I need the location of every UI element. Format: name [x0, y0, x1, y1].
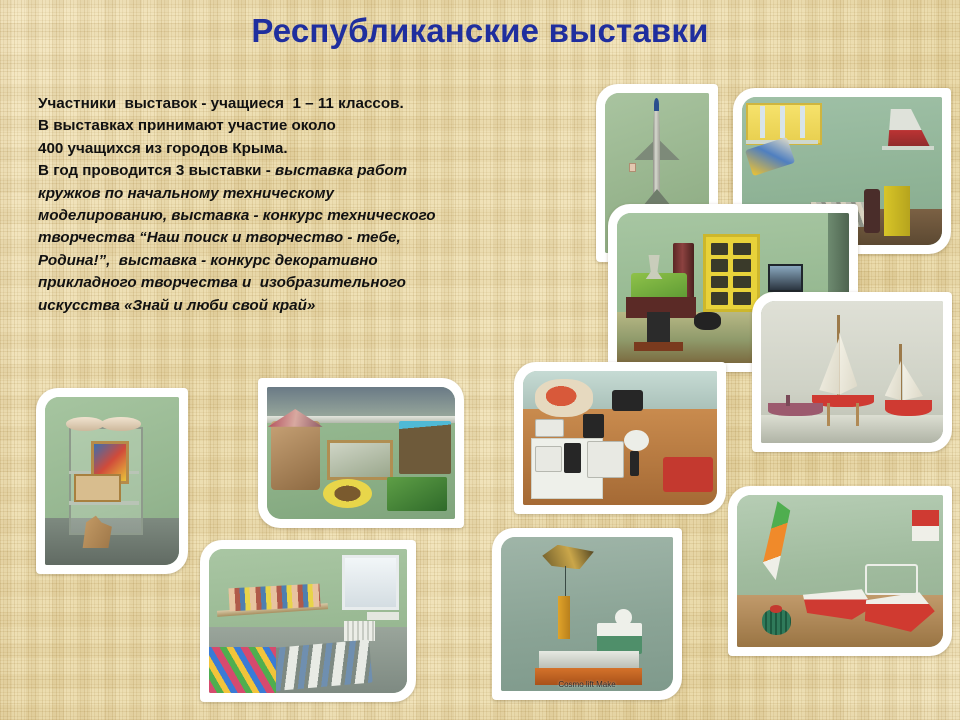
photo-cosmo-lift-model: Cosmo lift Make — [492, 528, 682, 700]
photo-image-electronics-table — [523, 371, 717, 505]
slide-canvas: Республиканские выставки Участники выста… — [0, 0, 960, 720]
photo-electronics-table — [514, 362, 726, 514]
photo-craft-exhibit-shelves — [258, 378, 464, 528]
photo-image-racing-boats — [737, 495, 943, 647]
body-line-2: 400 учащихся из городов Крыма. — [38, 138, 468, 160]
photo-glass-display-case — [36, 388, 188, 574]
photo-exhibition-room — [200, 540, 416, 702]
body-line-3: В год проводится 3 выставки - выставка р… — [38, 160, 468, 182]
photo-sailing-ship-models — [752, 292, 952, 452]
body-line-9: искусства «Знай и люби свой край» — [38, 295, 468, 317]
photo-caption-cosmo-lift: Cosmo lift Make — [501, 680, 673, 689]
photo-image-craft-exhibit-shelves — [267, 387, 455, 519]
body-line-5: моделированию, выставка - конкурс технич… — [38, 205, 468, 227]
page-title: Республиканские выставки — [0, 12, 960, 50]
photo-image-cosmo-lift-model: Cosmo lift Make — [501, 537, 673, 691]
body-line-4: кружков по начальному техническому — [38, 183, 468, 205]
body-paragraph: Участники выставок - учащиеся 1 – 11 кла… — [38, 93, 468, 317]
photo-image-exhibition-room — [209, 549, 407, 693]
photo-image-sailing-ship-models — [761, 301, 943, 443]
body-line-7: Родина!”, выставка - конкурс декоративно — [38, 250, 468, 272]
body-line-1: В выставках принимают участие около — [38, 115, 468, 137]
photo-racing-boats — [728, 486, 952, 656]
photo-image-glass-display-case — [45, 397, 179, 565]
body-line-6: творчества “Наш поиск и творчество - теб… — [38, 227, 468, 249]
body-line-0: Участники выставок - учащиеся 1 – 11 кла… — [38, 93, 468, 115]
body-line-8: прикладного творчества и изобразительног… — [38, 272, 468, 294]
